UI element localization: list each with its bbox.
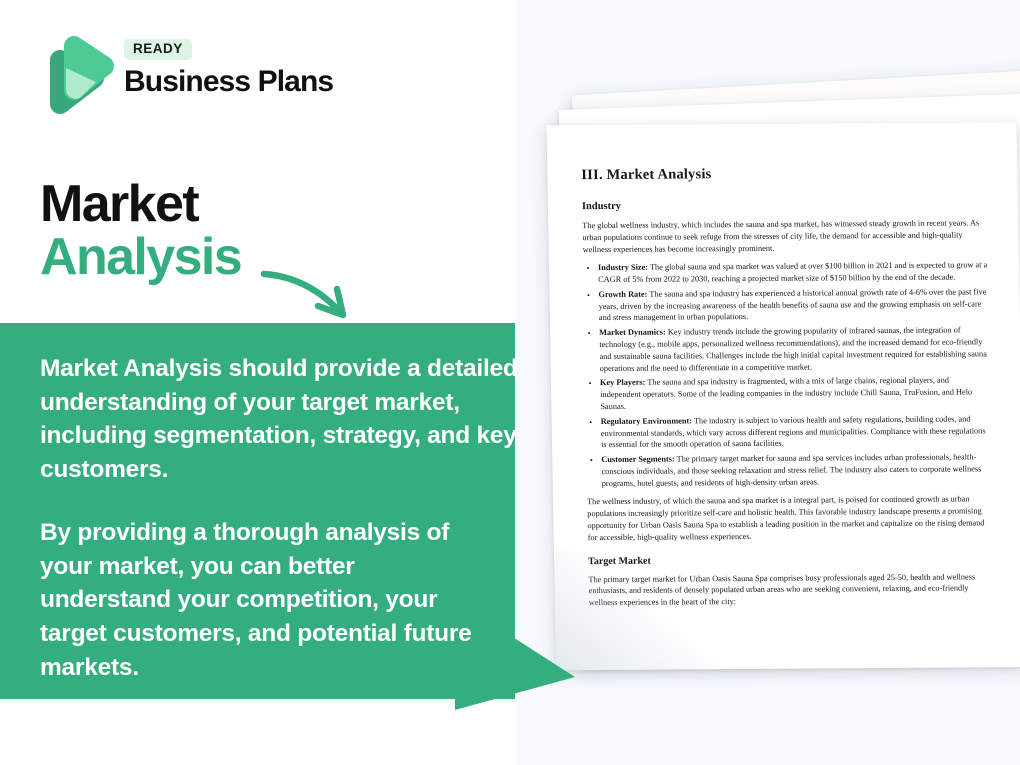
page-title-line-2: Analysis — [40, 231, 460, 284]
band-paragraph-1: Market Analysis should provide a detaile… — [40, 352, 552, 486]
list-item: Industry Size: The global sauna and spa … — [598, 260, 989, 286]
page-title: Market Analysis — [40, 178, 460, 284]
ready-badge: READY — [124, 39, 192, 60]
slide-canvas: III. Market Analysis Industry The global… — [0, 0, 1020, 765]
band-copy: Market Analysis should provide a detaile… — [40, 352, 552, 684]
brand-logo[interactable]: READY Business Plans — [40, 33, 360, 121]
doc-bullets: Industry Size: The global sauna and spa … — [583, 260, 993, 490]
list-item: Customer Segments: The primary target ma… — [601, 451, 993, 489]
bullet-label: Market Dynamics: — [599, 328, 666, 337]
bullet-text: The sauna and spa industry has experienc… — [599, 287, 987, 322]
list-item: Key Players: The sauna and spa industry … — [600, 375, 992, 413]
page-title-line-1: Market — [40, 178, 460, 231]
doc-closing: The wellness industry, of which the saun… — [587, 494, 994, 544]
bullet-label: Customer Segments: — [601, 455, 675, 465]
document-page-front: III. Market Analysis Industry The global… — [546, 122, 1020, 670]
doc-target-heading: Target Market — [588, 553, 994, 567]
bullet-text: The sauna and spa industry is fragmented… — [600, 376, 972, 411]
list-item: Growth Rate: The sauna and spa industry … — [598, 286, 990, 324]
curved-arrow-down-right-icon — [258, 262, 366, 324]
doc-section-heading: Industry — [582, 198, 988, 212]
list-item: Market Dynamics: Key industry trends inc… — [599, 325, 991, 375]
band-paragraph-2: By providing a thorough analysis of your… — [40, 516, 480, 684]
document-page-front-content: III. Market Analysis Industry The global… — [546, 122, 1020, 670]
double-play-triangle-logo-icon — [40, 33, 114, 115]
bullet-label: Industry Size: — [598, 263, 648, 272]
brand-logotype: READY Business Plans — [124, 39, 364, 97]
bullet-label: Key Players: — [600, 378, 646, 387]
list-item: Regulatory Environment: The industry is … — [601, 413, 993, 451]
doc-title: III. Market Analysis — [581, 164, 987, 184]
bullet-text: The global sauna and spa market was valu… — [598, 261, 987, 284]
bullet-label: Growth Rate: — [598, 290, 647, 299]
doc-target-text: The primary target market for Urban Oasi… — [588, 571, 995, 609]
doc-intro: The global wellness industry, which incl… — [582, 217, 989, 255]
bullet-label: Regulatory Environment: — [601, 416, 693, 426]
brand-name: Business Plans — [124, 67, 364, 97]
